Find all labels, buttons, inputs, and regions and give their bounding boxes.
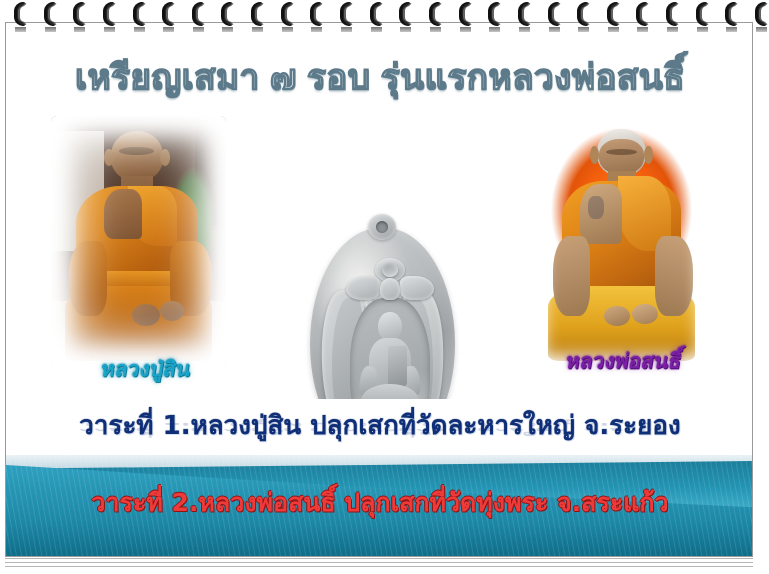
- monk-photo-right: [534, 116, 709, 366]
- spiral-ring-icon: [725, 2, 740, 30]
- spiral-ring-icon: [221, 2, 236, 30]
- spiral-ring-icon: [429, 2, 444, 30]
- spiral-ring-icon: [370, 2, 385, 30]
- spiral-ring-icon: [310, 2, 325, 30]
- monk-figure-right: [534, 116, 709, 366]
- spiral-ring-icon: [696, 2, 711, 30]
- poster-title: เหรียญเสมา ๗ รอบ รุ่นแรกหลวงพ่อสนธิ์: [75, 55, 685, 101]
- spiral-binding: [0, 0, 769, 34]
- medal-suspension-loop: [368, 214, 396, 240]
- spiral-ring-icon: [459, 2, 474, 30]
- spiral-ring-icon: [548, 2, 563, 30]
- spiral-ring-icon: [73, 2, 88, 30]
- spiral-ring-icon: [488, 2, 503, 30]
- spiral-ring-icon: [103, 2, 118, 30]
- spiral-ring-icon: [518, 2, 533, 30]
- poster-page: เหรียญเสมา ๗ รอบ รุ่นแรกหลวงพ่อสนธิ์: [0, 0, 769, 574]
- spiral-ring-icon: [162, 2, 177, 30]
- spiral-ring-icon: [281, 2, 296, 30]
- page-bottom-edge: [5, 558, 753, 572]
- spiral-ring-icon: [251, 2, 266, 30]
- spiral-ring-icon: [44, 2, 59, 30]
- spiral-ring-icon: [14, 2, 29, 30]
- band-one: วาระที่ 1.หลวงปู่สิน ปลุกเสกที่วัดละหารใ…: [6, 399, 753, 459]
- spiral-ring-icon: [636, 2, 651, 30]
- spiral-ring-icon: [607, 2, 622, 30]
- spiral-ring-icon: [577, 2, 592, 30]
- medal-crown-ornament: [344, 258, 436, 304]
- band-one-reflection: วาระที่ 1.หลวงปู่สิน ปลุกเสกที่วัดละหารใ…: [6, 416, 753, 439]
- spiral-ring-icon: [340, 2, 355, 30]
- caption-left: หลวงปู่สิน: [98, 353, 192, 386]
- title-area: เหรียญเสมา ๗ รอบ รุ่นแรกหลวงพ่อสนธิ์: [6, 55, 753, 101]
- band-two-text: วาระที่ 2.หลวงพ่อสนธิ์ ปลุกเสกที่วัดทุ่ง…: [6, 483, 753, 523]
- monk-figure-left: [51, 116, 226, 366]
- spiral-ring-icon: [666, 2, 681, 30]
- spiral-ring-icon: [755, 2, 769, 30]
- spiral-ring-icon: [133, 2, 148, 30]
- spiral-ring-icon: [192, 2, 207, 30]
- band-two: วาระที่ 2.หลวงพ่อสนธิ์ ปลุกเสกที่วัดทุ่ง…: [6, 455, 753, 557]
- poster-canvas: เหรียญเสมา ๗ รอบ รุ่นแรกหลวงพ่อสนธิ์: [5, 22, 753, 557]
- caption-right: หลวงพ่อสนธิ์: [563, 345, 683, 378]
- monk-photo-left: [51, 116, 226, 366]
- spiral-ring-icon: [399, 2, 414, 30]
